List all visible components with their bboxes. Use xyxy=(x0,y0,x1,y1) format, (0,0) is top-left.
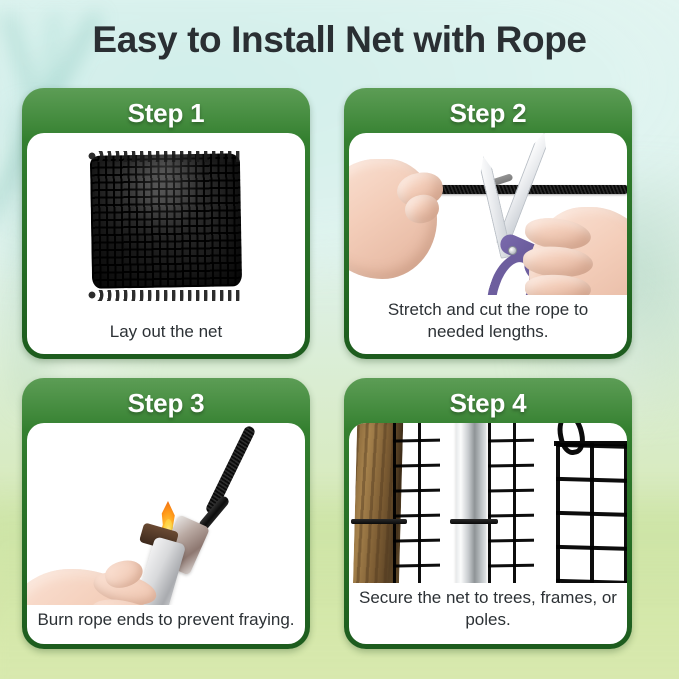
panel-tree xyxy=(349,423,440,583)
step-1-illustration xyxy=(27,133,305,317)
step-3-illustration xyxy=(27,423,305,605)
scissors-pivot-screw xyxy=(508,246,517,255)
step-card-1: Step 1 Lay out the net xyxy=(22,88,310,359)
step-card-4: Step 4 xyxy=(344,378,632,649)
step-2-illustration xyxy=(349,133,627,295)
step-3-body: Burn rope ends to prevent fraying. xyxy=(27,423,305,644)
step-4-header: Step 4 xyxy=(349,383,627,423)
step-card-2: Step 2 Stretch and cut the rope to ne xyxy=(344,88,632,359)
step-2-caption: Stretch and cut the rope to needed lengt… xyxy=(349,295,627,354)
attachment-panels xyxy=(349,423,627,583)
zip-tie-pole xyxy=(450,519,498,524)
step-1-body: Lay out the net xyxy=(27,133,305,354)
panel-frame xyxy=(536,423,627,583)
page-title: Easy to Install Net with Rope xyxy=(0,19,679,61)
step-card-3: Step 3 Burn rope ends to prevent fraying… xyxy=(22,378,310,649)
net-fringe-bottom xyxy=(88,290,244,301)
metal-pole-illustration xyxy=(456,423,486,583)
step-4-caption: Secure the net to trees, frames, or pole… xyxy=(349,583,627,644)
step-3-header: Step 3 xyxy=(27,383,305,423)
step-2-body: Stretch and cut the rope to needed lengt… xyxy=(349,133,627,354)
step-2-header: Step 2 xyxy=(349,93,627,133)
step-1-header: Step 1 xyxy=(27,93,305,133)
rope-end-illustration xyxy=(204,425,256,516)
net-mesh-on-tree xyxy=(393,423,440,583)
net-mesh-on-pole xyxy=(488,423,533,583)
net-mesh-panel xyxy=(556,442,627,583)
net-fringe-top xyxy=(88,151,244,162)
mesh-net-illustration xyxy=(90,153,242,289)
step-1-caption: Lay out the net xyxy=(27,317,305,354)
step-4-body: Secure the net to trees, frames, or pole… xyxy=(349,423,627,644)
panel-pole xyxy=(442,423,533,583)
step-4-illustration xyxy=(349,423,627,583)
step-3-caption: Burn rope ends to prevent fraying. xyxy=(27,605,305,644)
zip-tie-tree xyxy=(351,519,407,524)
steps-grid: Step 1 Lay out the net Step 2 xyxy=(22,88,658,658)
